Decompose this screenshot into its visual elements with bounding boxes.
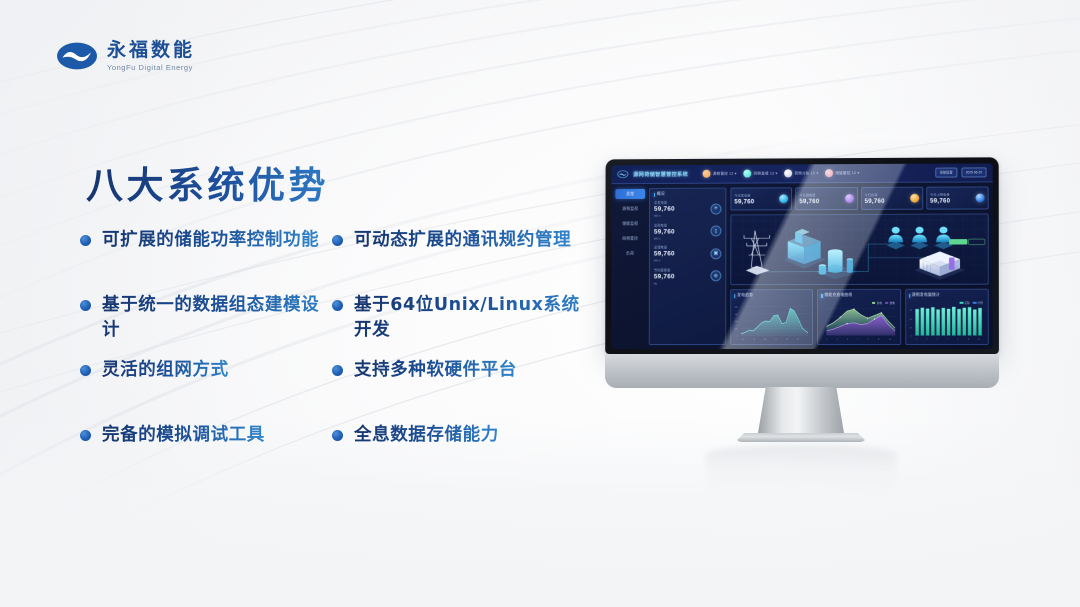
energy-network-scene [730,213,988,285]
grid-icon: ⊕ [710,270,721,281]
source-bubble-icon [703,170,710,177]
svg-text:600: 600 [735,307,738,309]
stat-unit: kW·h [654,258,675,262]
legend-swatch [885,302,889,304]
kpi-value: 59,760 [734,198,754,205]
solar-icon: ☀ [710,203,721,214]
bullet-dot-icon [80,235,91,246]
list-item: 灵活的组网方式 [80,358,332,423]
svg-text:9: 9 [957,339,958,341]
list-item-label: 灵活的组网方式 [102,358,229,383]
kpi-text: 今日负荷 59,760 [865,192,885,205]
grid-bubble-icon [744,170,751,178]
chart-title: 储能充放电曲线 [821,293,896,298]
svg-text:150: 150 [735,328,738,330]
list-item-label: 基于64位Unix/Linux系统开发 [354,293,588,343]
slide-root: 永福数能 YongFu Digital Energy 八大系统优势 可扩展的储能… [0,0,1080,607]
storage-icon: ▣ [710,248,721,259]
bullet-dot-icon [332,300,343,311]
kpi-value: 59,760 [799,198,819,205]
bullet-dot-icon [332,365,343,376]
legend-label: 计划 [977,301,982,305]
stats-panel: 概况 总发电量 59,760 kW·h ☀ [649,188,727,345]
stat-value: 59,760 [654,228,675,235]
dashboard-wave-logo-icon [617,170,628,178]
kpi-key: 今日发电量 [734,192,754,197]
stat-key: 总用电量 [654,222,675,227]
three-users [887,227,953,250]
date-button[interactable]: 2025-06-20 [961,167,987,177]
stat-value: 59,760 [654,206,675,213]
chart-legend: 实际 计划 [960,301,983,305]
dashboard: 源网荷储智慧管控系统 源侧管控 12 ▾ 网侧监视 12 ▾ [611,163,993,349]
legend-label: 放电 [890,301,895,305]
chart-canvas: 充电 放电 [821,301,897,341]
stat-row: 总储电量 59,760 kW·h ▣ [654,244,721,262]
chart-source-generation: 源侧发电量统计 实际 [905,289,989,345]
monitor-bezel: 源网荷储智慧管控系统 源侧管控 12 ▾ 网侧监视 12 ▾ [605,157,999,354]
tower-base [746,266,770,275]
monitor-stand-foot [735,433,867,442]
svg-text:300: 300 [735,321,738,323]
dashboard-sidebar: 总览 源侧监视 储能监视 网侧管控 负荷 [615,188,645,345]
stat-text: 总用电量 59,760 kW·h [654,222,675,240]
load-bubble-icon [784,170,791,178]
legend-item-charge: 充电 [872,301,882,305]
dashboard-main: 今日发电量 59,760 今日储能量 59,760 [730,186,989,345]
svg-text:5: 5 [936,339,937,341]
list-item: 可扩展的储能功率控制功能 [80,228,332,293]
svg-text:13: 13 [889,339,891,341]
list-item-label: 支持多种软硬件平台 [354,358,517,383]
list-item: 完备的模拟调试工具 [80,423,332,488]
chart-storage-curve: 储能充放电曲线 充电 [817,289,901,345]
bullet-dot-icon [80,300,91,311]
dashboard-body: 总览 源侧监视 储能监视 网侧管控 负荷 概况 总发电量 [611,182,993,349]
stat-unit: kW·h [654,214,675,218]
sidebar-item-source[interactable]: 源侧监视 [615,204,645,214]
chart-title: 发电趋势 [734,293,809,298]
dashboard-header: 源网荷储智慧管控系统 源侧管控 12 ▾ 网侧监视 12 ▾ [611,163,992,184]
legend-label: 实际 [964,301,969,305]
svg-text:9: 9 [868,339,869,341]
monitor-stand-neck [758,387,844,433]
kpi-card-export: 今日上网电量 59,760 [926,186,989,209]
settings-button[interactable]: 系统设置 [935,168,957,178]
legend-item-actual: 实际 [960,301,970,305]
list-item-label: 完备的模拟调试工具 [102,423,265,448]
isometric-diagram-icon [731,214,987,284]
power-tower [744,231,770,268]
nav-item-grid[interactable]: 网侧监视 12 ▾ [744,170,778,178]
svg-text:12: 12 [775,339,777,341]
legend-item-plan: 计划 [973,301,983,305]
stats-panel-title: 概况 [654,192,721,197]
bar-chart-icon: 8060 400 [909,301,985,341]
stat-row: 总用电量 59,760 kW·h ▯ [654,222,721,240]
legend-swatch [872,302,876,304]
nav-item-storage[interactable]: 储能管控 12 ▾ [825,169,859,177]
legend-swatch [960,302,964,304]
nav-item-source[interactable]: 源侧管控 12 ▾ [703,170,737,178]
legend-swatch [973,302,977,304]
kpi-row: 今日发电量 59,760 今日储能量 59,760 [730,186,988,210]
kpi-key: 今日负荷 [865,192,885,197]
stat-value: 59,760 [654,273,675,280]
storage-bubble-icon [825,169,832,177]
monitor-chin [605,354,999,388]
dashboard-header-actions: 系统设置 2025-06-20 [935,167,986,177]
brand-name-cn: 永福数能 [107,41,195,60]
page-title: 八大系统优势 [86,155,329,209]
nav-item-label: 源侧管控 12 ▾ [713,171,737,176]
kpi-text: 今日上网电量 59,760 [930,192,950,205]
export-icon [976,193,985,202]
stat-unit: kW·h [654,236,675,240]
status-badge [949,239,985,244]
storage-icon [845,194,854,203]
svg-text:80: 80 [910,310,912,312]
list-item: 支持多种软硬件平台 [332,358,588,423]
stat-text: 总发电量 59,760 kW·h [654,200,675,218]
sidebar-item-load[interactable]: 负荷 [615,249,645,259]
list-item: 全息数据存储能力 [332,423,588,488]
list-item: 基于统一的数据组态建模设计 [80,293,332,358]
svg-text:11: 11 [967,339,969,341]
kpi-card-generation: 今日发电量 59,760 [730,187,792,210]
list-item: 可动态扩展的通讯规约管理 [332,228,588,293]
advantages-list: 可扩展的储能功率控制功能 可动态扩展的通讯规约管理 基于统一的数据组态建模设计 … [80,228,588,488]
kpi-card-storage: 今日储能量 59,760 [795,187,857,210]
chart-legend: 充电 放电 [872,301,895,305]
nav-item-label: 网侧监视 12 ▾ [754,171,778,176]
load-icon [910,194,919,203]
svg-text:13: 13 [978,339,980,341]
svg-text:08: 08 [764,339,766,341]
svg-text:0: 0 [911,335,912,337]
stat-value: 59,760 [654,250,675,257]
list-item-label: 全息数据存储能力 [354,423,499,448]
kpi-value: 59,760 [930,198,950,205]
sidebar-item-grid[interactable]: 网侧管控 [615,234,645,244]
svg-text:5: 5 [847,339,848,341]
monitor-reflection [706,445,896,497]
kpi-key: 今日储能量 [799,192,819,197]
sidebar-item-storage[interactable]: 储能监视 [615,219,645,229]
stat-row: 节约碳排放 59,760 kg ⊕ [654,267,722,285]
brand-logo-text: 永福数能 YongFu Digital Energy [107,41,195,72]
stat-unit: kg [654,281,675,285]
kpi-text: 今日发电量 59,760 [734,192,754,205]
stat-key: 总储电量 [654,244,675,249]
bullet-dot-icon [80,365,91,376]
svg-text:04: 04 [753,339,755,341]
area-chart-icon: 600450 300150 0 0004 [734,301,809,341]
svg-text:3: 3 [837,339,838,341]
nav-item-label: 荷侧分析 12 ▾ [794,171,818,176]
dashboard-nav: 源侧管控 12 ▾ 网侧监视 12 ▾ 荷侧分析 12 ▾ [703,169,859,177]
list-item: 基于64位Unix/Linux系统开发 [332,293,588,358]
kpi-text: 今日储能量 59,760 [799,192,819,205]
dashboard-title: 源网荷储智慧管控系统 [633,170,688,177]
svg-text:0: 0 [737,336,738,338]
list-item-label: 可扩展的储能功率控制功能 [102,228,319,253]
svg-text:1: 1 [827,339,828,341]
stat-text: 总储电量 59,760 kW·h [654,244,675,262]
chart-generation-trend: 发电趋势 [730,289,813,345]
svg-text:60: 60 [910,319,912,321]
monitor-mockup: 源网荷储智慧管控系统 源侧管控 12 ▾ 网侧监视 12 ▾ [604,158,998,497]
chart-canvas: 600450 300150 0 0004 [734,301,809,341]
nav-item-label: 储能管控 12 ▾ [835,171,859,176]
svg-text:450: 450 [735,314,738,316]
chart-title: 源侧发电量统计 [909,293,985,298]
bullet-dot-icon [332,235,343,246]
bullet-dot-icon [332,430,343,441]
svg-text:16: 16 [786,339,788,341]
kpi-key: 今日上网电量 [930,192,950,197]
svg-text:20: 20 [797,339,799,341]
svg-text:00: 00 [742,339,744,341]
stat-row: 总发电量 59,760 kW·h ☀ [654,200,721,218]
list-item-label: 基于统一的数据组态建模设计 [102,293,332,343]
svg-text:40: 40 [910,327,912,329]
kpi-card-load: 今日负荷 59,760 [861,187,923,210]
svg-text:7: 7 [947,339,948,341]
brand-logo: 永福数能 YongFu Digital Energy [56,41,195,72]
brand-name-en: YongFu Digital Energy [107,64,195,72]
chart-canvas: 实际 计划 [909,301,985,341]
stat-key: 节约碳排放 [654,267,675,272]
legend-label: 充电 [877,301,882,305]
monitor-screen: 源网荷储智慧管控系统 源侧管控 12 ▾ 网侧监视 12 ▾ [611,163,993,349]
svg-text:11: 11 [878,339,880,341]
stat-text: 节约碳排放 59,760 kg [654,267,675,285]
legend-item-discharge: 放电 [885,301,895,305]
list-item-label: 可动态扩展的通讯规约管理 [354,228,571,253]
svg-text:7: 7 [858,339,859,341]
svg-text:1: 1 [916,339,917,341]
yongfu-wave-oval-logo-icon [56,41,98,71]
kpi-value: 59,760 [865,198,885,205]
dual-area-chart-icon: 135 7911 13 [821,301,897,341]
battery-icon: ▯ [710,225,721,236]
sidebar-item-overview[interactable]: 总览 [615,189,645,199]
generation-icon [779,194,788,203]
bullet-dot-icon [80,430,91,441]
nav-item-load[interactable]: 荷侧分析 12 ▾ [784,169,818,177]
svg-text:3: 3 [926,339,927,341]
charts-row: 发电趋势 [730,289,989,345]
stat-key: 总发电量 [654,200,675,205]
